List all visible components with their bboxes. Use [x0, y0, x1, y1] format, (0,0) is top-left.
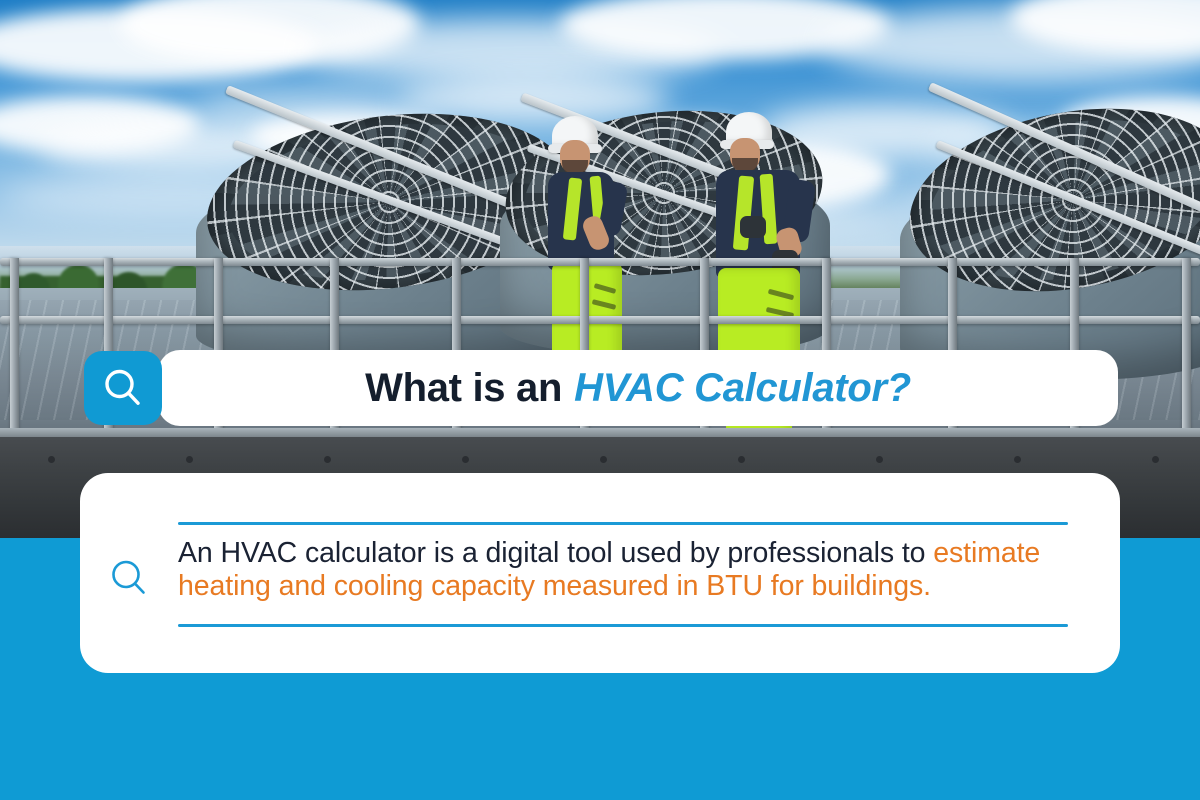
- parapet-bolt: [324, 456, 331, 463]
- parapet-bolt: [1152, 456, 1159, 463]
- search-badge[interactable]: [84, 351, 162, 425]
- safety-railing: [0, 316, 1200, 324]
- safety-railing: [0, 258, 1200, 266]
- railing-post: [1182, 258, 1191, 436]
- infographic-canvas: What is an HVAC Calculator? An HVAC calc…: [0, 0, 1200, 800]
- answer-text: An HVAC calculator is a digital tool use…: [178, 537, 1073, 603]
- answer-text-segment-1: An HVAC calculator is a digital tool use…: [178, 537, 933, 569]
- answer-card: An HVAC calculator is a digital tool use…: [80, 473, 1120, 673]
- work-glove: [740, 216, 766, 238]
- search-icon-wrapper: [108, 557, 152, 606]
- page-title: What is an HVAC Calculator?: [158, 350, 1118, 426]
- roof-parapet-lip: [0, 428, 1200, 437]
- divider-top: [178, 522, 1068, 525]
- railing-post: [10, 258, 19, 436]
- search-icon: [108, 557, 152, 601]
- page-title-part-2: HVAC Calculator?: [574, 366, 911, 411]
- parapet-bolt: [48, 456, 55, 463]
- divider-bottom: [178, 624, 1068, 627]
- parapet-bolt: [738, 456, 745, 463]
- parapet-bolt: [876, 456, 883, 463]
- parapet-bolt: [462, 456, 469, 463]
- parapet-bolt: [1014, 456, 1021, 463]
- title-bar: What is an HVAC Calculator?: [158, 350, 1118, 426]
- hero-photo: [0, 0, 1200, 538]
- page-title-part-1: What is an: [365, 366, 562, 411]
- parapet-bolt: [600, 456, 607, 463]
- parapet-bolt: [186, 456, 193, 463]
- search-icon: [101, 366, 145, 410]
